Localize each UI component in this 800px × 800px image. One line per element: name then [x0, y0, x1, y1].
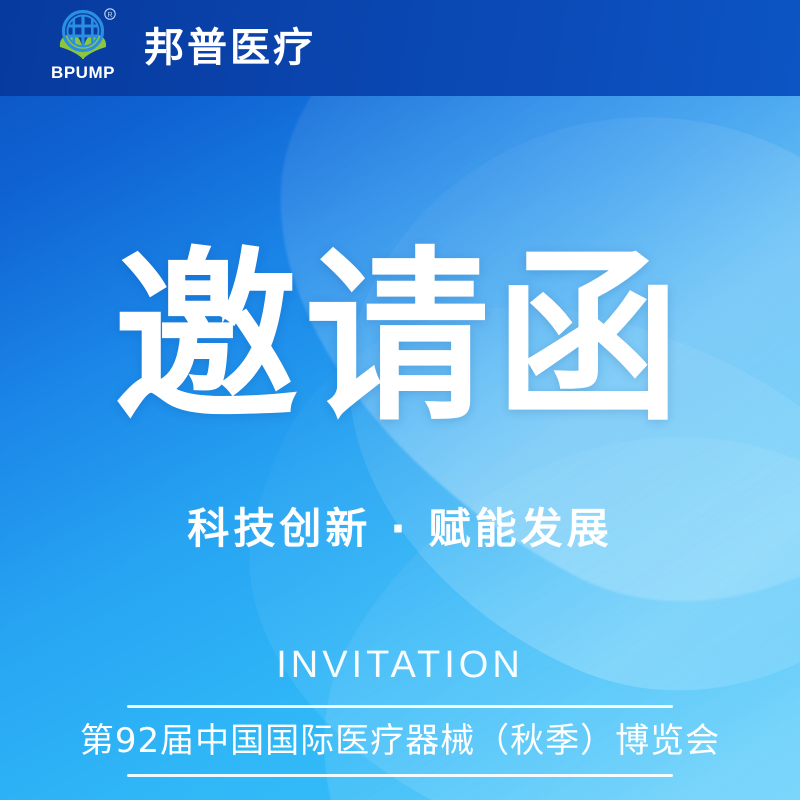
poster-subtitle: 科技创新 · 赋能发展: [0, 508, 800, 550]
page-title: 邀请函: [0, 246, 800, 431]
event-name: 第92届中国国际医疗器械（秋季）博览会: [0, 719, 800, 763]
invitation-poster: R BPUMP 邦普医疗 邀请函 科技创新 · 赋能发展 INVITATION …: [0, 0, 800, 800]
divider-line-top: [127, 705, 673, 708]
logo-wordmark: BPUMP: [51, 64, 115, 81]
poster-content: 邀请函 科技创新 · 赋能发展 INVITATION: [0, 96, 800, 800]
company-name: 邦普医疗: [144, 28, 316, 68]
registered-trademark-icon: R: [105, 9, 115, 19]
event-footer: 第92届中国国际医疗器械（秋季）博览会: [0, 705, 800, 800]
circle-grid-emblem-icon: R: [47, 7, 119, 65]
logo-mark: R: [47, 7, 119, 65]
invitation-english-label: INVITATION: [0, 646, 800, 684]
company-logo: R BPUMP: [44, 7, 122, 89]
svg-text:R: R: [107, 12, 112, 19]
brand-header: R BPUMP 邦普医疗: [0, 0, 800, 96]
divider-line-bottom: [127, 774, 673, 777]
